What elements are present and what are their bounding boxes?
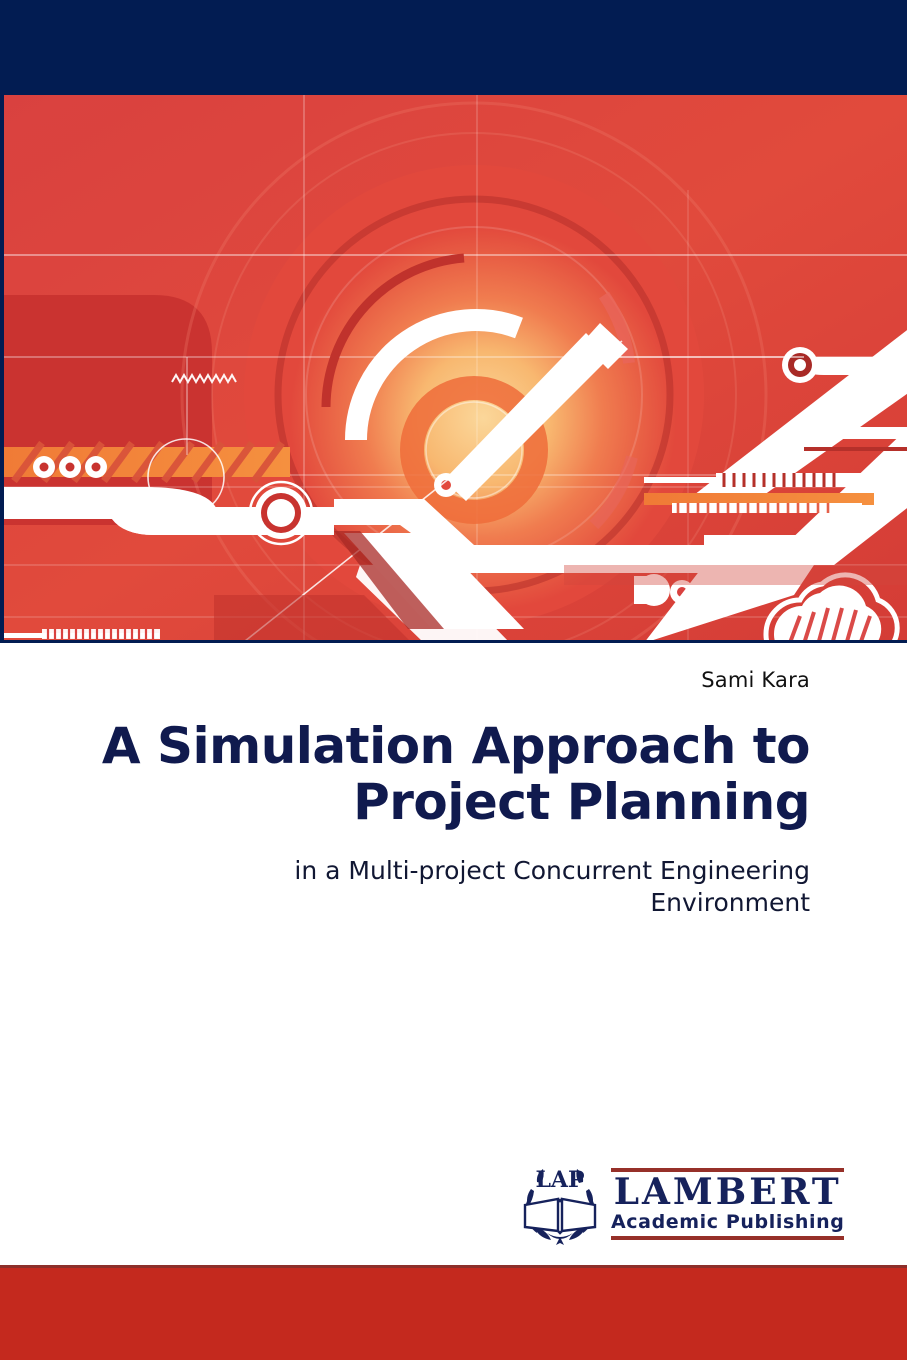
book-title-line-1: A Simulation Approach to	[50, 718, 810, 774]
bottom-red-band	[0, 1265, 907, 1360]
book-subtitle-line-2: Environment	[50, 887, 810, 919]
lap-emblem-icon: LAP	[517, 1161, 603, 1247]
publisher-tagline: Academic Publishing	[611, 1212, 844, 1233]
publisher-name: LAMBERT	[611, 1174, 844, 1211]
logo-rule-bottom	[611, 1236, 844, 1240]
cover-artwork-graphic	[4, 95, 907, 643]
book-subtitle: in a Multi-project Concurrent Engineerin…	[50, 855, 810, 919]
book-title-line-2: Project Planning	[50, 774, 810, 830]
lap-wordmark: LAMBERT Academic Publishing	[603, 1168, 844, 1240]
svg-text:LAP: LAP	[535, 1167, 584, 1193]
book-subtitle-line-1: in a Multi-project Concurrent Engineerin…	[50, 855, 810, 887]
publisher-logo: LAP LAMBERT Academic Publishing	[517, 1158, 822, 1250]
book-title: A Simulation Approach to Project Plannin…	[50, 718, 810, 830]
top-navy-band	[0, 0, 907, 97]
author-name: Sami Kara	[701, 668, 810, 692]
cover-artwork	[0, 95, 907, 643]
